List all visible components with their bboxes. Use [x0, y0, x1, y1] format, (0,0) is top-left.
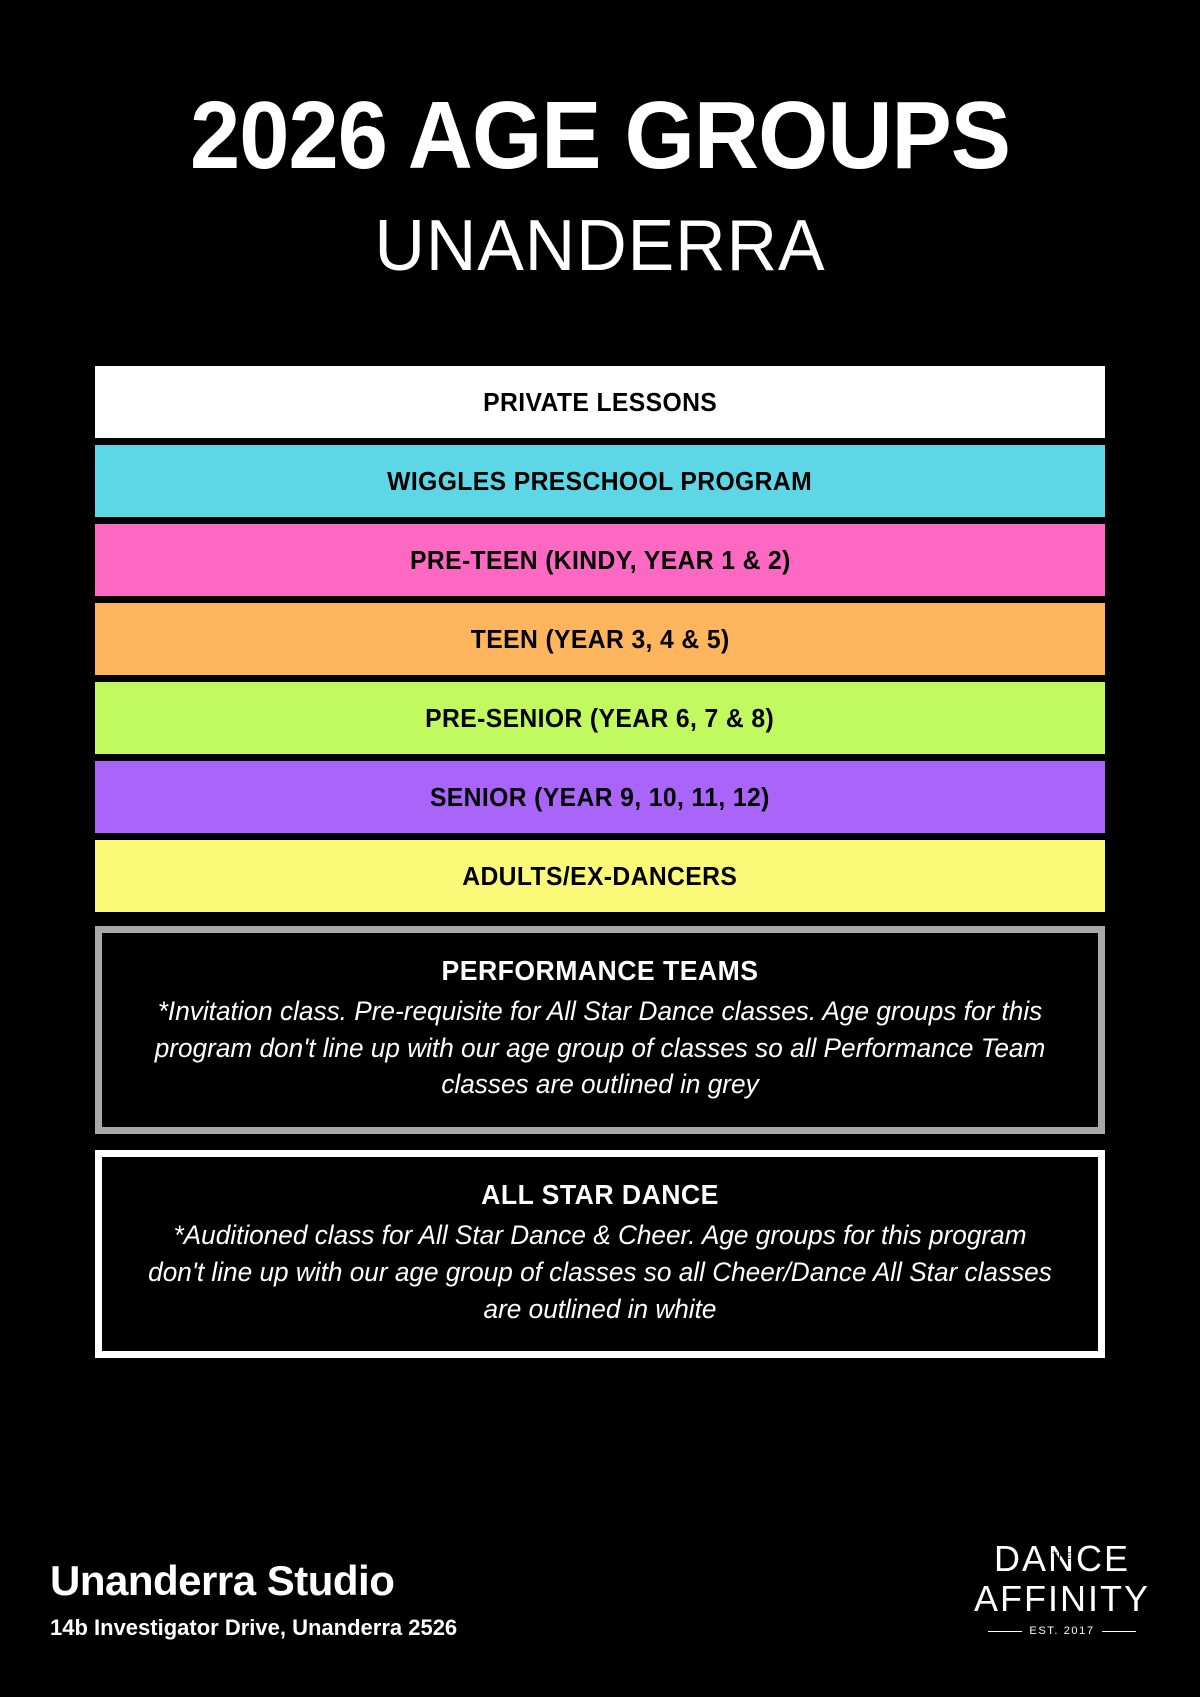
logo-rule-right: [1102, 1631, 1136, 1632]
age-group-bar[interactable]: PRE-TEEN (KINDY, YEAR 1 & 2): [95, 524, 1105, 596]
note-box: PERFORMANCE TEAMS*Invitation class. Pre-…: [95, 926, 1105, 1134]
note-box-title: PERFORMANCE TEAMS: [152, 955, 1049, 987]
age-group-bar-label: PRE-TEEN (KINDY, YEAR 1 & 2): [410, 545, 791, 576]
age-group-bar-label: TEEN (YEAR 3, 4 & 5): [471, 624, 730, 655]
note-box: ALL STAR DANCE*Auditioned class for All …: [95, 1150, 1105, 1358]
poster-root: 2026 AGE GROUPS UNANDERRA PRIVATE LESSON…: [0, 0, 1200, 1697]
note-box-body: *Auditioned class for All Star Dance & C…: [142, 1217, 1058, 1327]
note-box-list: PERFORMANCE TEAMS*Invitation class. Pre-…: [95, 926, 1105, 1358]
footer-studio-info: Unanderra Studio 14b Investigator Drive,…: [50, 1557, 457, 1641]
page-subtitle: UNANDERRA: [18, 210, 1182, 282]
age-group-bar-list: PRIVATE LESSONSWIGGLES PRESCHOOL PROGRAM…: [95, 282, 1105, 912]
note-box-body: *Invitation class. Pre-requisite for All…: [142, 993, 1058, 1103]
logo-est-text: EST. 2017: [1029, 1626, 1094, 1637]
age-group-bar-label: SENIOR (YEAR 9, 10, 11, 12): [430, 782, 770, 813]
age-group-bar-label: PRE-SENIOR (YEAR 6, 7 & 8): [426, 703, 775, 734]
age-group-bar[interactable]: TEEN (YEAR 3, 4 & 5): [95, 603, 1105, 675]
age-group-bar[interactable]: ADULTS/EX-DANCERS: [95, 840, 1105, 912]
logo-rule-left: [988, 1631, 1022, 1632]
age-group-bar[interactable]: SENIOR (YEAR 9, 10, 11, 12): [95, 761, 1105, 833]
age-group-bar[interactable]: WIGGLES PRESCHOOL PROGRAM: [95, 445, 1105, 517]
dance-affinity-logo: DANCE THE AFFINITY EST. 2017: [974, 1541, 1150, 1641]
studio-name: Unanderra Studio: [50, 1557, 457, 1605]
poster-footer: Unanderra Studio 14b Investigator Drive,…: [0, 1541, 1200, 1697]
page-title: 2026 AGE GROUPS: [36, 88, 1164, 184]
note-box-title: ALL STAR DANCE: [152, 1179, 1049, 1211]
poster-header: 2026 AGE GROUPS UNANDERRA: [0, 0, 1200, 282]
logo-line-one: DANCE THE: [974, 1541, 1150, 1577]
age-group-bar-label: PRIVATE LESSONS: [483, 387, 717, 418]
age-group-bar[interactable]: PRIVATE LESSONS: [95, 366, 1105, 438]
age-group-bar-label: ADULTS/EX-DANCERS: [463, 861, 738, 892]
logo-established-row: EST. 2017: [974, 1626, 1150, 1637]
studio-address: 14b Investigator Drive, Unanderra 2526: [50, 1615, 457, 1641]
logo-the-text: THE: [1052, 1552, 1072, 1561]
age-group-bar-label: WIGGLES PRESCHOOL PROGRAM: [388, 466, 813, 497]
logo-affinity-text: AFFINITY: [974, 1581, 1150, 1617]
age-group-bar[interactable]: PRE-SENIOR (YEAR 6, 7 & 8): [95, 682, 1105, 754]
